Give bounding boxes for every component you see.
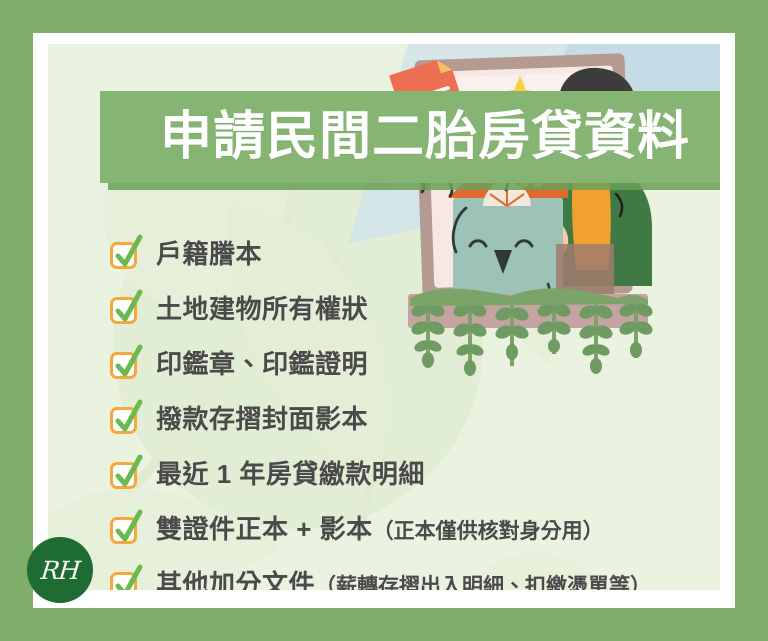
list-item[interactable]: 最近 1 年房貸繳款明細 [110, 446, 720, 501]
checkbox-checked-icon[interactable] [110, 569, 139, 590]
checkbox-checked-icon[interactable] [110, 349, 139, 378]
list-item-label: 撥款存摺封面影本 [156, 406, 368, 432]
list-item[interactable]: 土地建物所有權狀 [110, 281, 720, 336]
list-item-label: 雙證件正本 + 影本（正本僅供核對身分用） [156, 516, 604, 542]
checkbox-checked-icon[interactable] [110, 459, 139, 488]
list-item-label: 印鑑章、印鑑證明 [156, 351, 368, 377]
content-canvas: 申請民間二胎房貸資料 戶籍謄本 土地建物所有權狀 [48, 44, 720, 590]
list-item-label: 其他加分文件（薪轉存摺出入明細、扣繳憑單等） [156, 571, 651, 591]
logo-monogram: RH [39, 556, 81, 585]
list-item[interactable]: 雙證件正本 + 影本（正本僅供核對身分用） [110, 501, 720, 556]
list-item-label: 土地建物所有權狀 [156, 296, 368, 322]
title-banner: 申請民間二胎房貸資料 [100, 91, 720, 183]
page-title: 申請民間二胎房貸資料 [160, 111, 690, 163]
list-item-label: 戶籍謄本 [156, 241, 262, 267]
infographic-poster: 申請民間二胎房貸資料 戶籍謄本 土地建物所有權狀 [0, 0, 768, 641]
list-item-label: 最近 1 年房貸繳款明細 [156, 461, 425, 487]
checkbox-checked-icon[interactable] [110, 294, 139, 323]
checkbox-checked-icon[interactable] [110, 404, 139, 433]
list-item[interactable]: 印鑑章、印鑑證明 [110, 336, 720, 391]
brand-logo: RH [27, 537, 93, 603]
document-checklist: 戶籍謄本 土地建物所有權狀 印鑑章、印鑑證明 [110, 226, 720, 590]
checkbox-checked-icon[interactable] [110, 239, 139, 268]
list-item[interactable]: 撥款存摺封面影本 [110, 391, 720, 446]
list-item[interactable]: 戶籍謄本 [110, 226, 720, 281]
checkbox-checked-icon[interactable] [110, 514, 139, 543]
list-item[interactable]: 其他加分文件（薪轉存摺出入明細、扣繳憑單等） [110, 556, 720, 590]
